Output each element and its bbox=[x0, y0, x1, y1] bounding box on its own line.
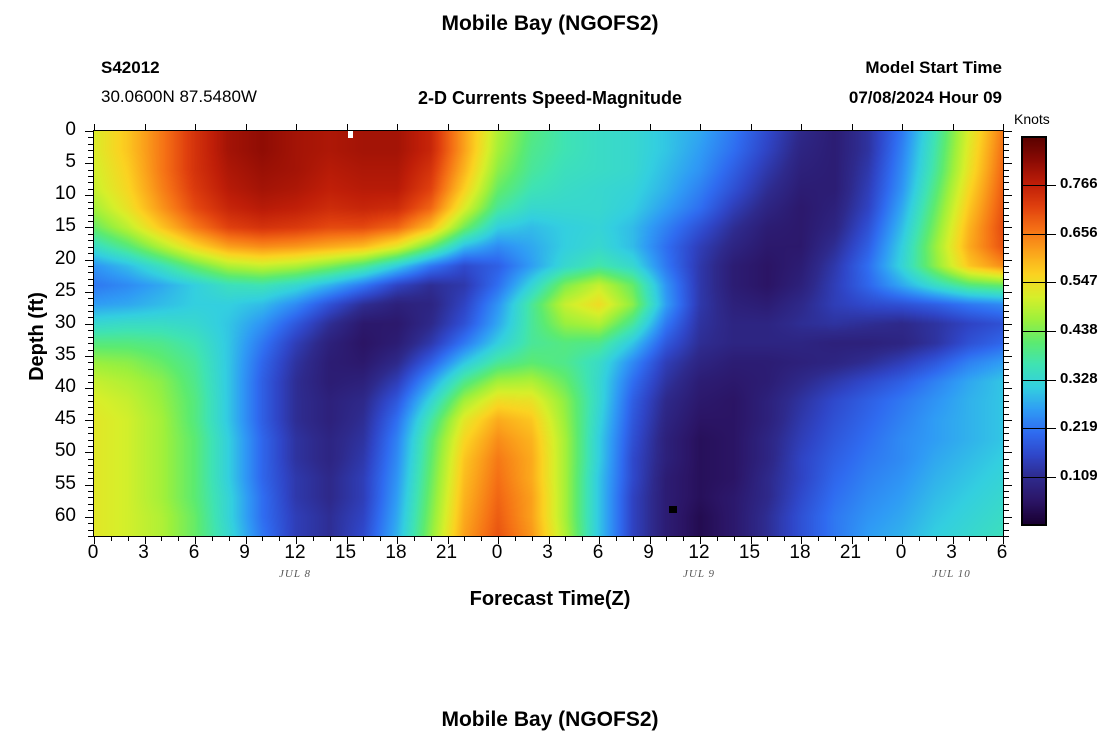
x-axis-tick-label: 21 bbox=[831, 542, 871, 564]
x-axis-day-label: JUL 8 bbox=[250, 568, 340, 580]
y-axis-minor-tick bbox=[88, 343, 93, 344]
y-axis-tick-label: 60 bbox=[36, 505, 76, 527]
y-axis-minor-tick bbox=[88, 530, 93, 531]
y-axis-minor-tick bbox=[88, 272, 93, 273]
y-axis-tick-right bbox=[1004, 163, 1012, 164]
colorbar-tick-inner bbox=[1021, 428, 1047, 429]
x-axis-minor-tick bbox=[532, 537, 533, 541]
colorbar-tick-inner bbox=[1021, 234, 1047, 235]
y-axis-minor-tick-right bbox=[1004, 176, 1009, 177]
x-axis-tick-label: 3 bbox=[124, 542, 164, 564]
x-axis-tick-label: 18 bbox=[780, 542, 820, 564]
y-axis-minor-tick bbox=[88, 317, 93, 318]
y-axis-minor-tick-right bbox=[1004, 427, 1009, 428]
x-axis-minor-tick bbox=[986, 537, 987, 541]
x-axis-minor-tick bbox=[111, 537, 112, 541]
y-axis-minor-tick-right bbox=[1004, 530, 1009, 531]
y-axis-minor-tick bbox=[88, 375, 93, 376]
colorbar-tick bbox=[1047, 428, 1056, 429]
model-start-time-value: 07/08/2024 Hour 09 bbox=[849, 88, 1002, 108]
x-axis-tick-top bbox=[1003, 124, 1004, 131]
y-axis-minor-tick bbox=[88, 362, 93, 363]
y-axis-minor-tick bbox=[88, 176, 93, 177]
y-axis-minor-tick bbox=[88, 150, 93, 151]
y-axis-minor-tick-right bbox=[1004, 504, 1009, 505]
y-axis-tick bbox=[85, 452, 93, 453]
y-axis-minor-tick-right bbox=[1004, 375, 1009, 376]
y-axis-minor-tick bbox=[88, 234, 93, 235]
y-axis-minor-tick-right bbox=[1004, 137, 1009, 138]
y-axis-minor-tick bbox=[88, 189, 93, 190]
y-axis-minor-tick-right bbox=[1004, 491, 1009, 492]
x-axis-tick-label: 12 bbox=[275, 542, 315, 564]
y-axis-tick bbox=[85, 420, 93, 421]
x-axis-minor-tick bbox=[784, 537, 785, 541]
y-axis-minor-tick bbox=[88, 440, 93, 441]
x-axis-tick-label: 18 bbox=[376, 542, 416, 564]
y-axis-minor-tick-right bbox=[1004, 170, 1009, 171]
page-title: Mobile Bay (NGOFS2) bbox=[0, 12, 1100, 36]
y-axis-minor-tick bbox=[88, 536, 93, 537]
y-axis-title: Depth (ft) bbox=[26, 292, 49, 381]
y-axis-minor-tick-right bbox=[1004, 234, 1009, 235]
colorbar-tick-inner bbox=[1021, 477, 1047, 478]
y-axis-minor-tick bbox=[88, 478, 93, 479]
x-axis-minor-tick bbox=[818, 537, 819, 541]
y-axis-minor-tick bbox=[88, 266, 93, 267]
y-axis-minor-tick-right bbox=[1004, 150, 1009, 151]
y-axis-minor-tick bbox=[88, 401, 93, 402]
y-axis-minor-tick-right bbox=[1004, 362, 1009, 363]
y-axis-tick-label: 55 bbox=[36, 473, 76, 495]
y-axis-minor-tick bbox=[88, 504, 93, 505]
x-axis-tick-top bbox=[94, 124, 95, 131]
y-axis-minor-tick bbox=[88, 298, 93, 299]
y-axis-minor-tick-right bbox=[1004, 478, 1009, 479]
x-axis-minor-tick bbox=[229, 537, 230, 541]
y-axis-minor-tick bbox=[88, 433, 93, 434]
y-axis-tick-right bbox=[1004, 485, 1012, 486]
colorbar-tick bbox=[1047, 185, 1056, 186]
y-axis-minor-tick bbox=[88, 510, 93, 511]
y-axis-minor-tick-right bbox=[1004, 330, 1009, 331]
x-axis-minor-tick bbox=[936, 537, 937, 541]
y-axis-tick bbox=[85, 356, 93, 357]
x-axis-tick-top bbox=[852, 124, 853, 131]
y-axis-minor-tick-right bbox=[1004, 414, 1009, 415]
y-axis-tick-label: 45 bbox=[36, 408, 76, 430]
y-axis-tick bbox=[85, 163, 93, 164]
y-axis-minor-tick-right bbox=[1004, 317, 1009, 318]
y-axis-tick-label: 20 bbox=[36, 248, 76, 270]
y-axis-minor-tick bbox=[88, 446, 93, 447]
colorbar-tick-inner bbox=[1021, 331, 1047, 332]
y-axis-minor-tick-right bbox=[1004, 459, 1009, 460]
y-axis-minor-tick bbox=[88, 407, 93, 408]
x-axis-tick-top bbox=[599, 124, 600, 131]
y-axis-tick bbox=[85, 324, 93, 325]
y-axis-minor-tick-right bbox=[1004, 202, 1009, 203]
y-axis-minor-tick bbox=[88, 279, 93, 280]
y-axis-minor-tick bbox=[88, 337, 93, 338]
x-axis-minor-tick bbox=[414, 537, 415, 541]
y-axis-minor-tick bbox=[88, 427, 93, 428]
y-axis-minor-tick-right bbox=[1004, 472, 1009, 473]
x-axis-minor-tick bbox=[212, 537, 213, 541]
y-axis-minor-tick-right bbox=[1004, 182, 1009, 183]
x-axis-tick-label: 6 bbox=[174, 542, 214, 564]
y-axis-minor-tick-right bbox=[1004, 343, 1009, 344]
y-axis-minor-tick bbox=[88, 202, 93, 203]
y-axis-minor-tick bbox=[88, 208, 93, 209]
y-axis-minor-tick-right bbox=[1004, 446, 1009, 447]
y-axis-minor-tick-right bbox=[1004, 266, 1009, 267]
x-axis-tick-top bbox=[145, 124, 146, 131]
x-axis-tick-label: 9 bbox=[629, 542, 669, 564]
colorbar-tick-inner bbox=[1021, 282, 1047, 283]
y-axis-tick bbox=[85, 388, 93, 389]
x-axis-minor-tick bbox=[363, 537, 364, 541]
x-axis-tick-label: 15 bbox=[730, 542, 770, 564]
y-axis-tick-right bbox=[1004, 356, 1012, 357]
y-axis-minor-tick bbox=[88, 369, 93, 370]
x-axis-minor-tick bbox=[262, 537, 263, 541]
colorbar-tick bbox=[1047, 282, 1056, 283]
y-axis-minor-tick bbox=[88, 137, 93, 138]
y-axis-minor-tick bbox=[88, 465, 93, 466]
x-axis-minor-tick bbox=[666, 537, 667, 541]
x-axis-minor-tick bbox=[515, 537, 516, 541]
colorbar-tick bbox=[1047, 331, 1056, 332]
y-axis-minor-tick-right bbox=[1004, 144, 1009, 145]
x-axis-minor-tick bbox=[683, 537, 684, 541]
colorbar-tick bbox=[1047, 477, 1056, 478]
y-axis-minor-tick bbox=[88, 472, 93, 473]
y-axis-tick bbox=[85, 517, 93, 518]
y-axis-minor-tick bbox=[88, 170, 93, 171]
y-axis-tick-right bbox=[1004, 420, 1012, 421]
y-axis-minor-tick-right bbox=[1004, 157, 1009, 158]
y-axis-tick-right bbox=[1004, 388, 1012, 389]
x-axis-tick-top bbox=[296, 124, 297, 131]
y-axis-minor-tick-right bbox=[1004, 311, 1009, 312]
y-axis-minor-tick bbox=[88, 459, 93, 460]
colorbar: 0.1090.2190.3280.4380.5470.6560.766 bbox=[1021, 136, 1047, 526]
y-axis-tick-right bbox=[1004, 324, 1012, 325]
y-axis-tick-label: 5 bbox=[36, 151, 76, 173]
y-axis-minor-tick bbox=[88, 253, 93, 254]
x-axis-minor-tick bbox=[380, 537, 381, 541]
y-axis-minor-tick bbox=[88, 382, 93, 383]
x-axis-tick-label: 3 bbox=[932, 542, 972, 564]
y-axis-minor-tick bbox=[88, 414, 93, 415]
y-axis-tick-right bbox=[1004, 260, 1012, 261]
y-axis-tick bbox=[85, 195, 93, 196]
y-axis-minor-tick-right bbox=[1004, 440, 1009, 441]
minimum-marker bbox=[669, 506, 677, 513]
y-axis-tick-right bbox=[1004, 452, 1012, 453]
x-axis-tick-label: 9 bbox=[225, 542, 265, 564]
x-axis-tick-label: 6 bbox=[982, 542, 1022, 564]
y-axis-tick-right bbox=[1004, 517, 1012, 518]
x-axis-tick-top bbox=[448, 124, 449, 131]
y-axis-minor-tick-right bbox=[1004, 208, 1009, 209]
colorbar-tick-label: 0.219 bbox=[1060, 418, 1098, 435]
heatmap-plot-area bbox=[93, 130, 1004, 537]
y-axis-minor-tick-right bbox=[1004, 305, 1009, 306]
y-axis-minor-tick-right bbox=[1004, 465, 1009, 466]
y-axis-minor-tick-right bbox=[1004, 510, 1009, 511]
x-axis-minor-tick bbox=[767, 537, 768, 541]
y-axis-minor-tick bbox=[88, 497, 93, 498]
x-axis-tick-top bbox=[498, 124, 499, 131]
x-axis-day-label: JUL 9 bbox=[654, 568, 744, 580]
y-axis-minor-tick bbox=[88, 285, 93, 286]
y-axis-tick-right bbox=[1004, 292, 1012, 293]
y-axis-minor-tick bbox=[88, 157, 93, 158]
y-axis-tick bbox=[85, 485, 93, 486]
y-axis-tick bbox=[85, 292, 93, 293]
y-axis-minor-tick-right bbox=[1004, 272, 1009, 273]
y-axis-minor-tick-right bbox=[1004, 298, 1009, 299]
y-axis-minor-tick-right bbox=[1004, 240, 1009, 241]
y-axis-tick-label: 50 bbox=[36, 440, 76, 462]
colorbar-tick-label: 0.766 bbox=[1060, 175, 1098, 192]
x-axis-minor-tick bbox=[633, 537, 634, 541]
y-axis-minor-tick-right bbox=[1004, 369, 1009, 370]
x-axis-minor-tick bbox=[582, 537, 583, 541]
x-axis-minor-tick bbox=[969, 537, 970, 541]
x-axis-tick-label: 0 bbox=[881, 542, 921, 564]
x-axis-tick-top bbox=[953, 124, 954, 131]
y-axis-minor-tick bbox=[88, 311, 93, 312]
model-start-time-label: Model Start Time bbox=[865, 58, 1002, 78]
y-axis-minor-tick bbox=[88, 240, 93, 241]
x-axis-minor-tick bbox=[885, 537, 886, 541]
x-axis-minor-tick bbox=[734, 537, 735, 541]
y-axis-tick-right bbox=[1004, 195, 1012, 196]
y-axis-minor-tick bbox=[88, 523, 93, 524]
x-axis-tick-top bbox=[195, 124, 196, 131]
y-axis-minor-tick-right bbox=[1004, 395, 1009, 396]
y-axis-tick-right bbox=[1004, 227, 1012, 228]
colorbar-tick-label: 0.547 bbox=[1060, 272, 1098, 289]
y-axis-minor-tick bbox=[88, 221, 93, 222]
x-axis-minor-tick bbox=[868, 537, 869, 541]
y-axis-tick-label: 0 bbox=[36, 119, 76, 141]
y-axis-minor-tick-right bbox=[1004, 189, 1009, 190]
colorbar-tick-inner bbox=[1021, 185, 1047, 186]
y-axis-minor-tick-right bbox=[1004, 536, 1009, 537]
y-axis-minor-tick-right bbox=[1004, 523, 1009, 524]
x-axis-minor-tick bbox=[835, 537, 836, 541]
x-axis-tick-top bbox=[801, 124, 802, 131]
colorbar-tick bbox=[1047, 234, 1056, 235]
y-axis-tick bbox=[85, 260, 93, 261]
colorbar-tick-inner bbox=[1021, 380, 1047, 381]
x-axis-tick-label: 3 bbox=[528, 542, 568, 564]
x-axis-tick-label: 6 bbox=[578, 542, 618, 564]
x-axis-tick-label: 21 bbox=[427, 542, 467, 564]
top-white-tick-marker bbox=[348, 131, 353, 138]
y-axis-minor-tick-right bbox=[1004, 407, 1009, 408]
y-axis-tick-right bbox=[1004, 131, 1012, 132]
x-axis-minor-tick bbox=[313, 537, 314, 541]
y-axis-minor-tick-right bbox=[1004, 497, 1009, 498]
y-axis-minor-tick bbox=[88, 215, 93, 216]
x-axis-tick-top bbox=[751, 124, 752, 131]
x-axis-tick-label: 0 bbox=[73, 542, 113, 564]
x-axis-tick-top bbox=[246, 124, 247, 131]
x-axis-minor-tick bbox=[717, 537, 718, 541]
colorbar-tick-label: 0.109 bbox=[1060, 467, 1098, 484]
y-axis-minor-tick-right bbox=[1004, 401, 1009, 402]
y-axis-tick-label: 15 bbox=[36, 215, 76, 237]
y-axis-minor-tick bbox=[88, 395, 93, 396]
x-axis-tick-top bbox=[397, 124, 398, 131]
y-axis-minor-tick bbox=[88, 330, 93, 331]
colorbar-tick bbox=[1047, 380, 1056, 381]
colorbar-tick-label: 0.328 bbox=[1060, 370, 1098, 387]
y-axis-minor-tick bbox=[88, 182, 93, 183]
y-axis-minor-tick-right bbox=[1004, 382, 1009, 383]
station-id: S42012 bbox=[101, 58, 160, 78]
x-axis-title: Forecast Time(Z) bbox=[0, 588, 1100, 611]
x-axis-tick-top bbox=[902, 124, 903, 131]
y-axis-minor-tick bbox=[88, 144, 93, 145]
y-axis-minor-tick bbox=[88, 491, 93, 492]
x-axis-day-label: JUL 10 bbox=[907, 568, 997, 580]
x-axis-tick-top bbox=[549, 124, 550, 131]
y-axis-minor-tick-right bbox=[1004, 253, 1009, 254]
colorbar-title: Knots bbox=[1014, 111, 1050, 127]
x-axis-minor-tick bbox=[161, 537, 162, 541]
y-axis-minor-tick-right bbox=[1004, 279, 1009, 280]
x-axis-tick-label: 15 bbox=[326, 542, 366, 564]
x-axis-minor-tick bbox=[330, 537, 331, 541]
y-axis-minor-tick-right bbox=[1004, 350, 1009, 351]
x-axis-minor-tick bbox=[565, 537, 566, 541]
y-axis-tick bbox=[85, 131, 93, 132]
y-axis-minor-tick bbox=[88, 305, 93, 306]
y-axis-minor-tick-right bbox=[1004, 433, 1009, 434]
colorbar-tick-label: 0.438 bbox=[1060, 321, 1098, 338]
x-axis-minor-tick bbox=[464, 537, 465, 541]
y-axis-minor-tick-right bbox=[1004, 337, 1009, 338]
y-axis-tick-label: 10 bbox=[36, 183, 76, 205]
x-axis-minor-tick bbox=[128, 537, 129, 541]
bottom-page-title: Mobile Bay (NGOFS2) bbox=[0, 708, 1100, 732]
x-axis-tick-top bbox=[700, 124, 701, 131]
x-axis-tick-top bbox=[650, 124, 651, 131]
x-axis-minor-tick bbox=[481, 537, 482, 541]
y-axis-minor-tick-right bbox=[1004, 285, 1009, 286]
y-axis-minor-tick-right bbox=[1004, 221, 1009, 222]
y-axis-minor-tick bbox=[88, 350, 93, 351]
x-axis-minor-tick bbox=[178, 537, 179, 541]
y-axis-minor-tick-right bbox=[1004, 215, 1009, 216]
x-axis-minor-tick bbox=[616, 537, 617, 541]
y-axis-minor-tick bbox=[88, 247, 93, 248]
x-axis-minor-tick bbox=[431, 537, 432, 541]
colorbar-tick-label: 0.656 bbox=[1060, 224, 1098, 241]
x-axis-minor-tick bbox=[919, 537, 920, 541]
x-axis-minor-tick bbox=[279, 537, 280, 541]
x-axis-tick-top bbox=[347, 124, 348, 131]
y-axis-minor-tick-right bbox=[1004, 247, 1009, 248]
heatmap-canvas bbox=[94, 131, 1003, 536]
y-axis-tick bbox=[85, 227, 93, 228]
x-axis-tick-label: 12 bbox=[679, 542, 719, 564]
x-axis-tick-label: 0 bbox=[477, 542, 517, 564]
